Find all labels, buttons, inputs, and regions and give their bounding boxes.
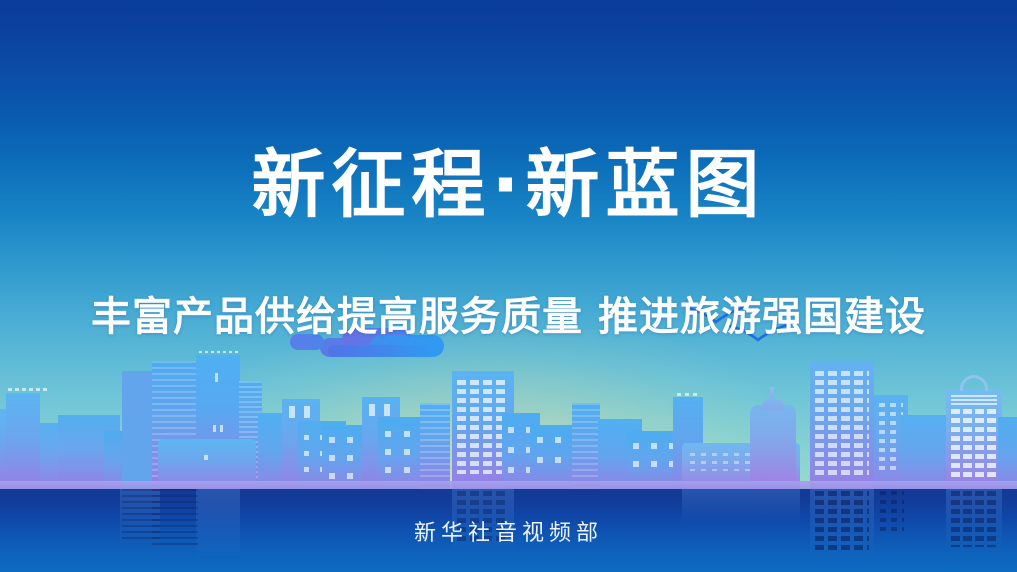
horizon-line [0, 481, 1017, 489]
building-slab-right-3 [900, 415, 946, 489]
building-block-far-right [998, 417, 1017, 489]
building-dome-tower [750, 405, 796, 489]
building-arch-tower [946, 389, 1002, 489]
building-highrise-right [810, 361, 874, 489]
page-subtitle: 丰富产品供给提高服务质量 推进旅游强国建设 [0, 295, 1017, 339]
building-ribbed-center [420, 403, 450, 489]
building-tower-left-1 [6, 393, 40, 489]
page-title: 新征程·新蓝图 [0, 147, 1017, 225]
credit-line: 新华社音视频部 [0, 515, 1017, 547]
building-tower-right-1 [572, 403, 600, 489]
building-slab-center [378, 417, 426, 489]
news-poster: 新征程·新蓝图 丰富产品供给提高服务质量 推进旅游强国建设 新华社音视频部 [0, 0, 1017, 572]
